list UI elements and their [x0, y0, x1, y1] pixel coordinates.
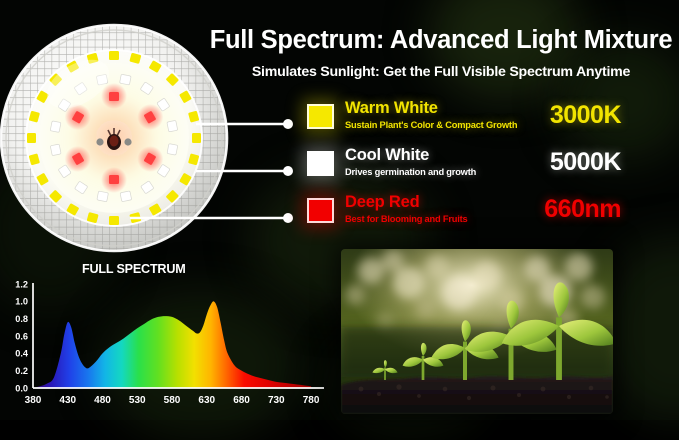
led-grow-light-bulb — [0, 18, 234, 258]
x-axis-tick-label: 730 — [268, 395, 285, 406]
x-axis-tick-label: 780 — [303, 395, 320, 406]
legend-text-group: Cool White Drives germination and growth — [345, 145, 476, 179]
x-axis-tick-label: 580 — [164, 395, 181, 406]
spectrum-distribution-plot: 0.00.20.40.60.81.01.2 380430480530580630… — [0, 278, 340, 420]
soil-bed — [341, 376, 613, 414]
legend-name: Warm White — [345, 98, 517, 118]
y-axis-tick-label: 1.0 — [15, 297, 28, 307]
legend-name: Deep Red — [345, 192, 468, 212]
x-axis-tick-label: 380 — [25, 395, 42, 406]
legend-row-deep-red: Deep Red Best for Blooming and Fruits 66… — [300, 192, 679, 238]
legend-value: 660nm — [544, 192, 621, 226]
warm-white-swatch-icon — [307, 104, 334, 129]
led-grow-light-bulb-icon — [0, 18, 234, 258]
page-subtitle: Simulates Sunlight: Get the Full Visible… — [206, 64, 676, 80]
spectrum-area-series — [33, 301, 311, 388]
legend-value: 3000K — [550, 98, 621, 132]
x-axis-tick-label: 680 — [233, 395, 250, 406]
y-axis-tick-label: 0.8 — [15, 314, 28, 324]
legend-name: Cool White — [345, 145, 476, 165]
y-axis-tick-label: 0.4 — [15, 349, 29, 359]
legend-description: Drives germination and growth — [345, 166, 476, 179]
led-type-legend: Warm White Sustain Plant's Color & Compa… — [300, 98, 679, 238]
chart-title: FULL SPECTRUM — [82, 262, 186, 276]
y-axis-tick-label: 0.2 — [15, 366, 28, 376]
x-axis-tick-labels: 380430480530580630680730780 — [25, 395, 320, 406]
legend-description: Sustain Plant's Color & Compact Growth — [345, 119, 517, 132]
legend-row-cool-white: Cool White Drives germination and growth… — [300, 145, 679, 191]
x-axis-tick-label: 530 — [129, 395, 146, 406]
x-axis-tick-label: 480 — [94, 395, 111, 406]
y-axis-tick-label: 0.6 — [15, 331, 28, 341]
page-title: Full Spectrum: Advanced Light Mixture — [206, 26, 676, 55]
legend-description: Best for Blooming and Fruits — [345, 213, 468, 226]
deep-red-swatch-icon — [307, 198, 334, 223]
x-axis-tick-label: 630 — [198, 395, 215, 406]
seedlings-photo — [341, 249, 613, 414]
seedlings-growing-in-soil-photo — [341, 249, 613, 414]
y-axis-tick-labels: 0.00.20.40.60.81.01.2 — [15, 279, 29, 393]
y-axis-tick-label: 0.0 — [15, 383, 28, 393]
full-spectrum-chart: 0.00.20.40.60.81.01.2 380430480530580630… — [0, 278, 340, 420]
x-axis-tick-label: 430 — [59, 395, 76, 406]
cool-white-swatch-icon — [307, 151, 334, 176]
legend-text-group: Warm White Sustain Plant's Color & Compa… — [345, 98, 517, 132]
legend-text-group: Deep Red Best for Blooming and Fruits — [345, 192, 468, 226]
legend-value: 5000K — [550, 145, 621, 179]
legend-row-warm-white: Warm White Sustain Plant's Color & Compa… — [300, 98, 679, 144]
y-axis-tick-label: 1.2 — [15, 279, 28, 289]
